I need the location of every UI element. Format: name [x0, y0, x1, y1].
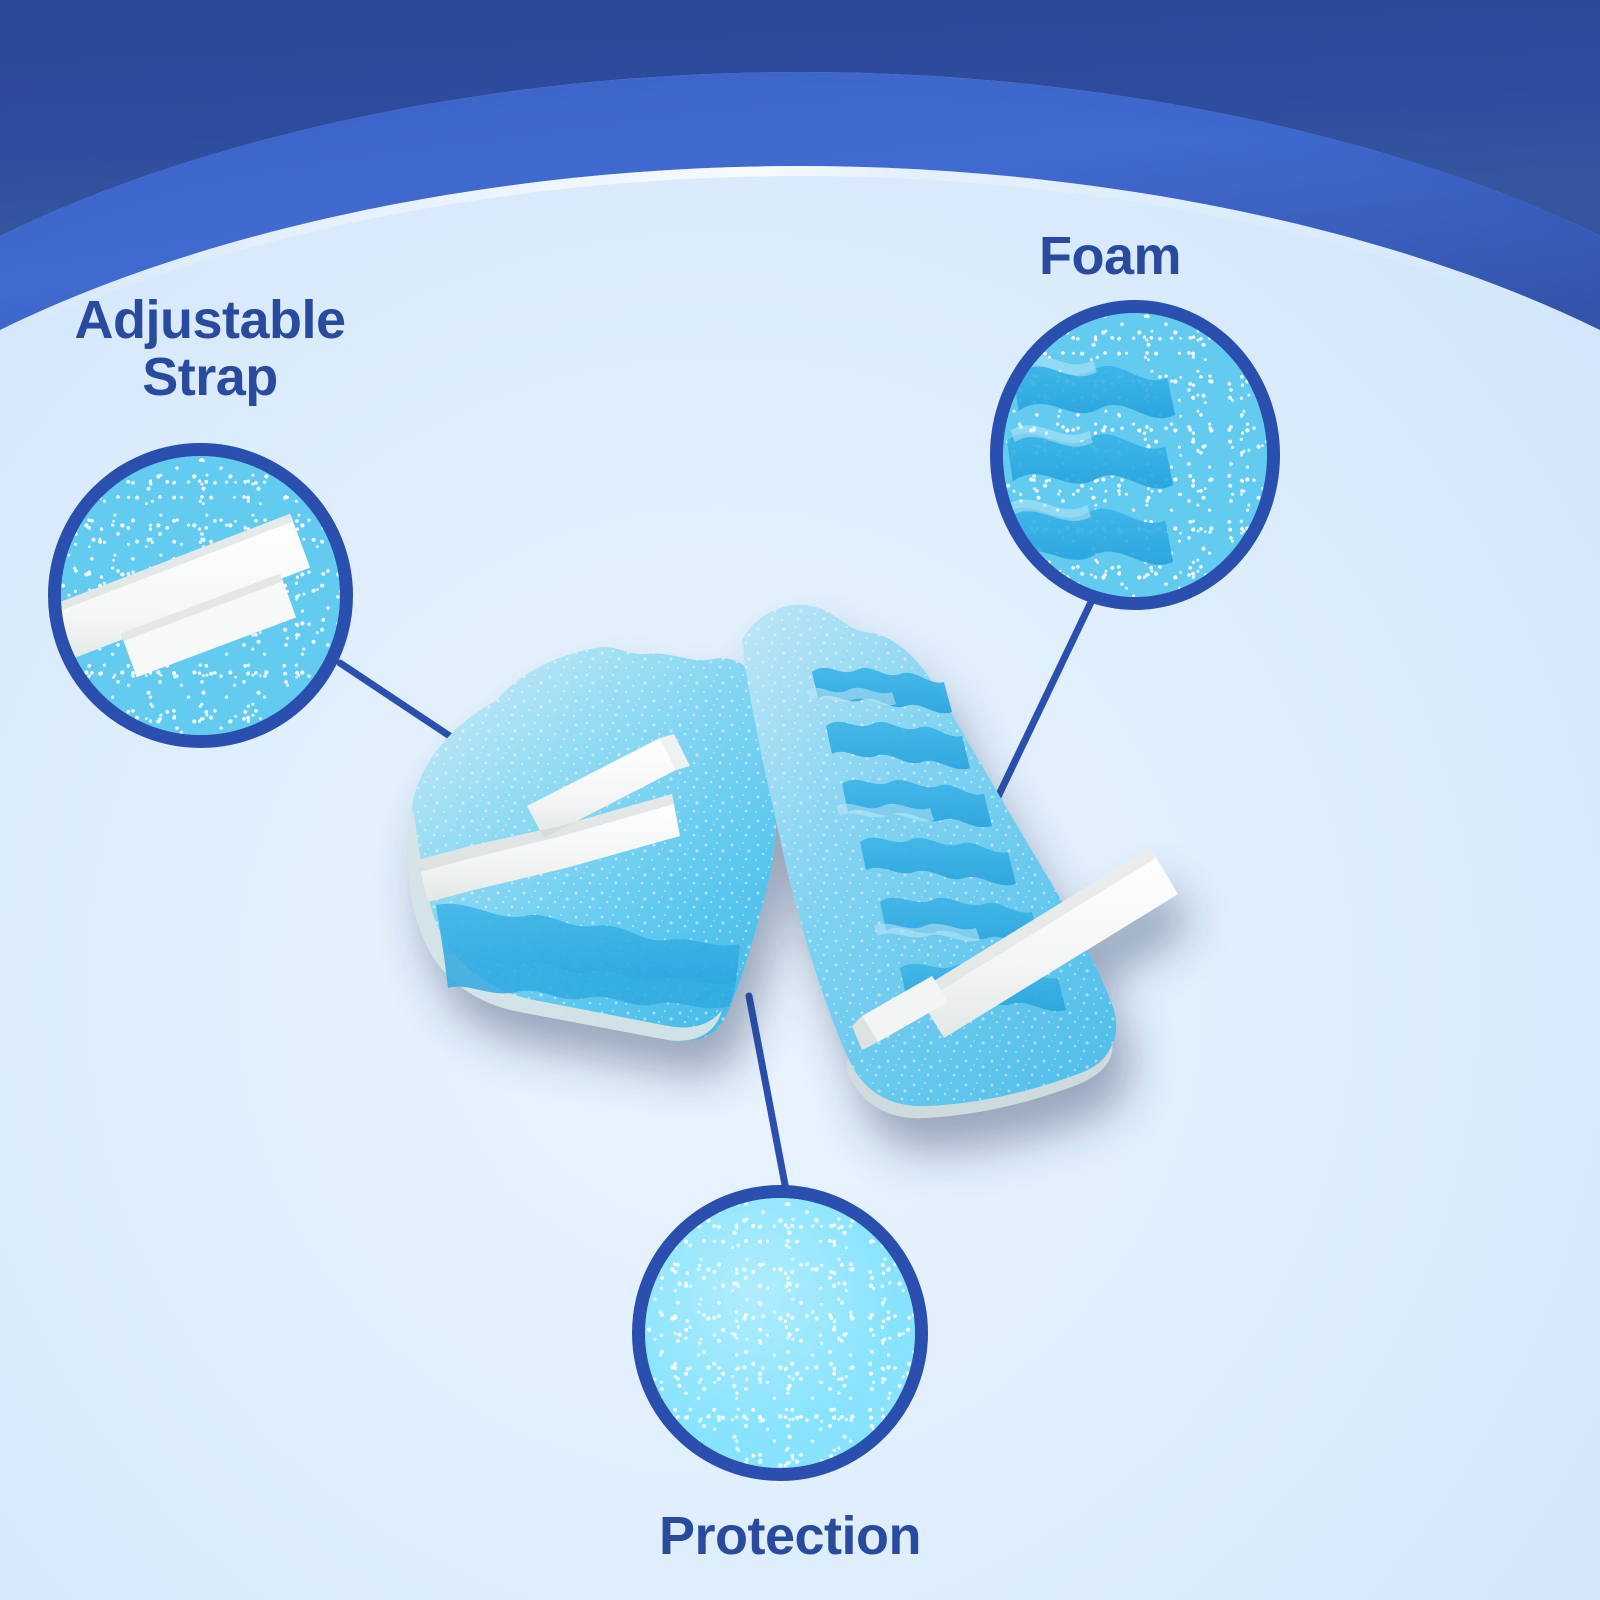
infographic-canvas: Adjustable Strap Foam Protection	[0, 0, 1600, 1600]
magnifier-foam[interactable]	[990, 300, 1280, 610]
callout-label-adjustable-strap: Adjustable Strap	[20, 292, 400, 405]
magnifier-adjustable-strap-content	[61, 456, 340, 735]
magnifier-adjustable-strap[interactable]	[48, 443, 353, 748]
magnifier-protection[interactable]	[632, 1185, 928, 1481]
foam-highlight	[645, 1198, 915, 1468]
magnifier-protection-content	[645, 1198, 915, 1468]
magnifier-foam-content	[1003, 313, 1267, 597]
callout-label-foam: Foam	[950, 228, 1270, 285]
callout-label-protection: Protection	[600, 1508, 980, 1565]
